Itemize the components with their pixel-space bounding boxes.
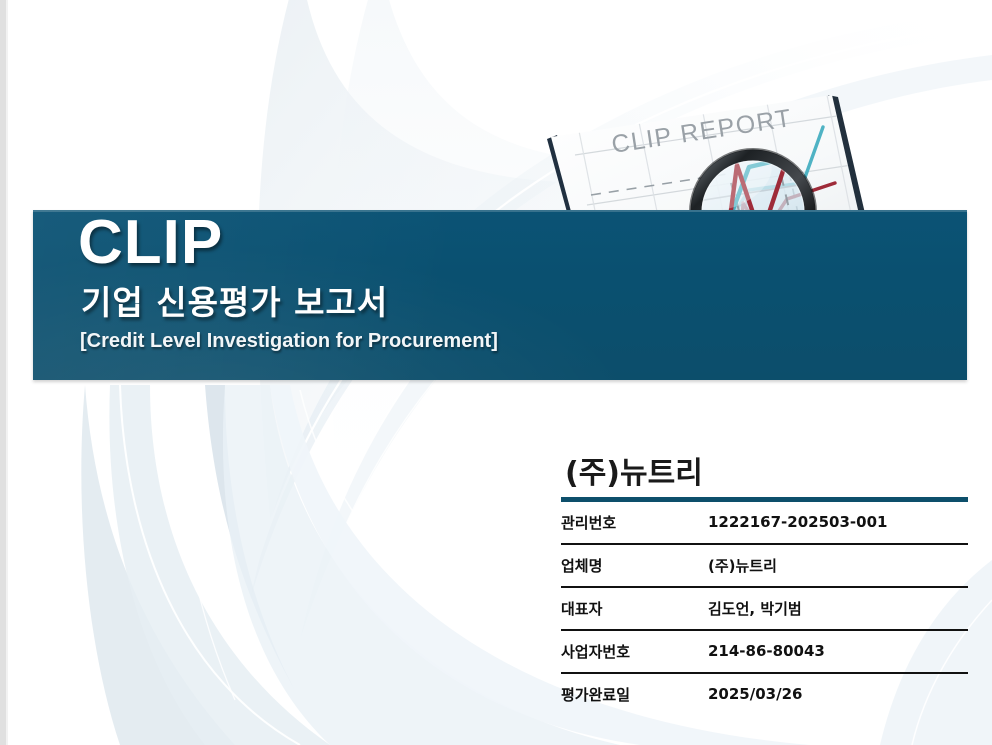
table-row: 대표자 김도언, 박기범 [561, 587, 968, 630]
table-row: 사업자번호 214-86-80043 [561, 630, 968, 673]
info-label-representative: 대표자 [561, 587, 708, 630]
info-label-business-number: 사업자번호 [561, 630, 708, 673]
info-value-evaluation-date: 2025/03/26 [708, 673, 968, 715]
brand-subtitle-english: [Credit Level Investigation for Procurem… [80, 330, 778, 353]
table-row: 평가완료일 2025/03/26 [561, 673, 968, 715]
table-row: 업체명 (주)뉴트리 [561, 544, 968, 587]
brand-block: CLIP 기업 신용평가 보고서 [Credit Level Investiga… [78, 212, 778, 353]
brand-subtitle-korean: 기업 신용평가 보고서 [81, 276, 778, 324]
page-edge-strip-inner [6, 0, 8, 745]
company-info-block: (주)뉴트리 관리번호 1222167-202503-001 업체명 (주)뉴트… [561, 455, 968, 715]
info-value-management-number: 1222167-202503-001 [708, 502, 968, 544]
table-row: 관리번호 1222167-202503-001 [561, 502, 968, 544]
brand-title: CLIP [78, 212, 778, 274]
report-cover-page: CLIP REPORT [0, 0, 992, 745]
company-info-table: 관리번호 1222167-202503-001 업체명 (주)뉴트리 대표자 김… [561, 502, 968, 715]
info-label-evaluation-date: 평가완료일 [561, 673, 708, 715]
info-label-management-number: 관리번호 [561, 502, 708, 544]
info-label-company-name: 업체명 [561, 544, 708, 587]
info-value-company-name: (주)뉴트리 [708, 544, 968, 587]
company-name-heading: (주)뉴트리 [565, 455, 968, 493]
info-value-business-number: 214-86-80043 [708, 630, 968, 673]
clip-title-banner: CLIP 기업 신용평가 보고서 [Credit Level Investiga… [33, 210, 967, 380]
info-value-representative: 김도언, 박기범 [708, 587, 968, 630]
company-info-table-body: 관리번호 1222167-202503-001 업체명 (주)뉴트리 대표자 김… [561, 502, 968, 715]
